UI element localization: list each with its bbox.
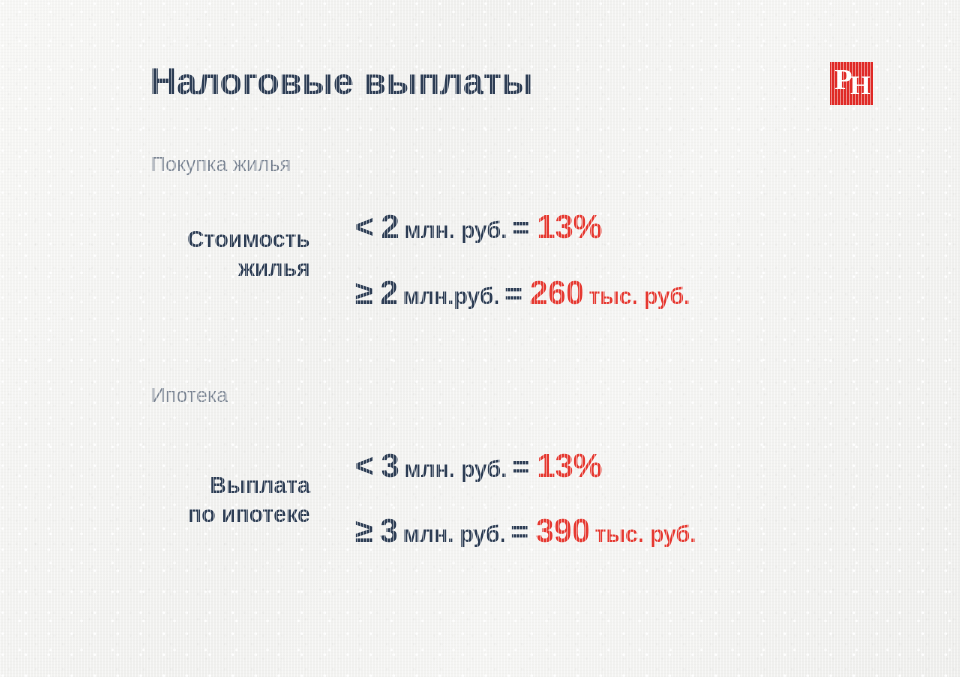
formula-result-value: 13% bbox=[537, 208, 602, 245]
formula-mortgage-above-threshold: ≥3млн. руб.=390тыс. руб. bbox=[355, 514, 696, 547]
formula-result-value: 260 bbox=[530, 274, 584, 311]
formula-amount: 3 bbox=[381, 447, 399, 484]
page-title: Налоговые выплаты bbox=[150, 60, 533, 104]
formula-mortgage-below-threshold: <3млн. руб.=13% bbox=[355, 449, 602, 482]
formula-comparator: < bbox=[355, 447, 374, 484]
formula-amount: 2 bbox=[380, 274, 398, 311]
formula-equals-sign: = bbox=[512, 210, 530, 245]
row-label-mortgage-payment-line1: Выплата bbox=[120, 471, 310, 500]
formula-result-unit: тыс. руб. bbox=[589, 283, 690, 309]
row-label-mortgage-payment: Выплата по ипотеке bbox=[120, 471, 310, 529]
formula-unit: млн. руб. bbox=[404, 217, 507, 243]
section-heading-mortgage: Ипотека bbox=[151, 383, 228, 409]
row-label-mortgage-payment-line2: по ипотеке bbox=[120, 500, 310, 529]
formula-result-value: 13% bbox=[537, 447, 602, 484]
row-label-housing-cost-line2: жилья bbox=[120, 254, 310, 283]
formula-comparator: < bbox=[355, 208, 374, 245]
infographic-poster: Налоговые выплаты РН Покупка жилья Стоим… bbox=[0, 0, 960, 677]
formula-purchase-above-threshold: ≥2млн.руб.=260тыс. руб. bbox=[355, 276, 690, 309]
formula-equals-sign: = bbox=[511, 514, 529, 549]
formula-unit: млн. руб. bbox=[403, 521, 506, 547]
formula-amount: 2 bbox=[381, 208, 399, 245]
formula-purchase-below-threshold: <2млн. руб.=13% bbox=[355, 210, 602, 243]
formula-equals-sign: = bbox=[512, 449, 530, 484]
formula-equals-sign: = bbox=[505, 276, 523, 311]
publisher-logo: РН bbox=[830, 62, 873, 105]
formula-unit: млн. руб. bbox=[404, 456, 507, 482]
logo-letter-r: Р bbox=[835, 64, 851, 96]
row-label-housing-cost-line1: Стоимость bbox=[120, 225, 310, 254]
formula-unit: млн.руб. bbox=[403, 283, 500, 309]
formula-comparator: ≥ bbox=[355, 274, 373, 311]
formula-amount: 3 bbox=[380, 512, 398, 549]
logo-monogram-icon: РН bbox=[835, 68, 869, 97]
formula-result-value: 390 bbox=[536, 512, 590, 549]
logo-letter-n: Н bbox=[850, 71, 868, 100]
formula-comparator: ≥ bbox=[355, 512, 373, 549]
row-label-housing-cost: Стоимость жилья bbox=[120, 225, 310, 283]
section-heading-purchase: Покупка жилья bbox=[151, 152, 291, 178]
formula-result-unit: тыс. руб. bbox=[595, 521, 696, 547]
